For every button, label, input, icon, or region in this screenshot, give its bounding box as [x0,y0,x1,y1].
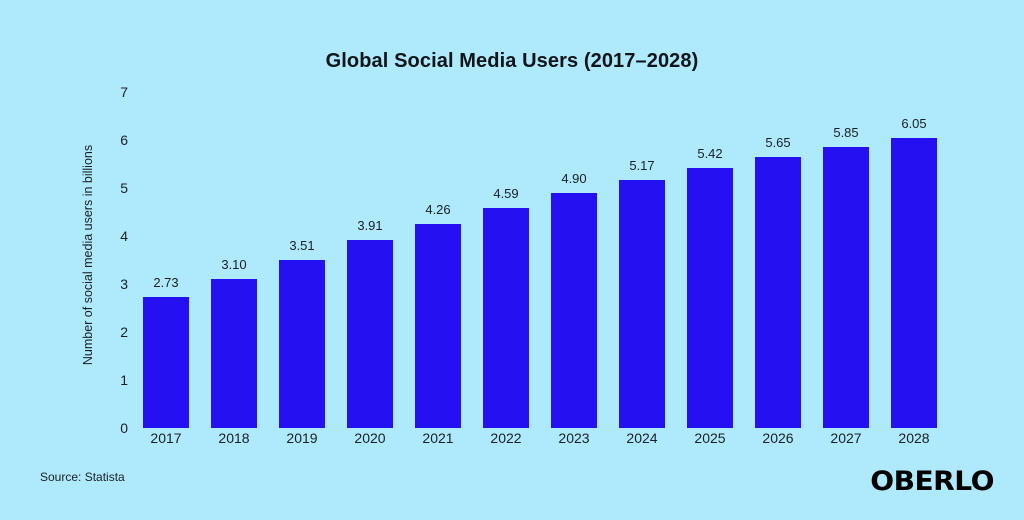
bar-group: 4.262021 [415,0,461,520]
y-axis-title: Number of social media users in billions [81,105,95,405]
bar [551,193,597,428]
bar-group: 4.902023 [551,0,597,520]
bar-value-label: 3.91 [335,218,405,233]
bar-value-label: 4.90 [539,171,609,186]
bar-value-label: 5.42 [675,146,745,161]
x-axis-tick: 2028 [879,430,949,446]
bar-group: 5.652026 [755,0,801,520]
x-axis-tick: 2023 [539,430,609,446]
bar-group: 3.102018 [211,0,257,520]
bar [415,224,461,428]
bar-value-label: 2.73 [131,275,201,290]
bar-group: 6.052028 [891,0,937,520]
bar-value-label: 4.26 [403,202,473,217]
x-axis-tick: 2019 [267,430,337,446]
y-axis-tick: 5 [104,180,128,196]
y-axis-tick: 0 [104,420,128,436]
y-axis-tick: 6 [104,132,128,148]
bar-group: 3.912020 [347,0,393,520]
chart-plot-area: Number of social media users in billions… [0,0,1024,520]
x-axis-tick: 2021 [403,430,473,446]
y-axis-tick: 4 [104,228,128,244]
bar-value-label: 5.65 [743,135,813,150]
bar [483,208,529,428]
bar [211,279,257,428]
x-axis-tick: 2025 [675,430,745,446]
bar-group: 2.732017 [143,0,189,520]
bar [823,147,869,428]
bar-value-label: 4.59 [471,186,541,201]
source-note: Source: Statista [40,470,125,484]
bar [347,240,393,428]
bar-value-label: 6.05 [879,116,949,131]
x-axis-tick: 2026 [743,430,813,446]
bar-series: 2.7320173.1020183.5120193.9120204.262021… [143,0,943,520]
x-axis-tick: 2017 [131,430,201,446]
y-axis-tick: 3 [104,276,128,292]
bar-group: 5.172024 [619,0,665,520]
bar-group: 4.592022 [483,0,529,520]
y-axis-tick: 7 [104,84,128,100]
bar [687,168,733,428]
x-axis-tick: 2027 [811,430,881,446]
infographic-canvas: Global Social Media Users (2017–2028) Nu… [0,0,1024,520]
bar-group: 5.422025 [687,0,733,520]
x-axis-tick: 2022 [471,430,541,446]
y-axis-tick: 2 [104,324,128,340]
bar [619,180,665,428]
bar [755,157,801,428]
bar [279,260,325,428]
bar-group: 3.512019 [279,0,325,520]
y-axis-tick-labels: 01234567 [104,0,128,520]
x-axis-tick: 2024 [607,430,677,446]
y-axis-tick: 1 [104,372,128,388]
bar [143,297,189,428]
x-axis-tick: 2018 [199,430,269,446]
bar-value-label: 5.17 [607,158,677,173]
oberlo-logo: OBERLO [870,466,994,497]
bar-value-label: 3.51 [267,238,337,253]
bar-value-label: 5.85 [811,125,881,140]
bar-group: 5.852027 [823,0,869,520]
x-axis-tick: 2020 [335,430,405,446]
bar-value-label: 3.10 [199,257,269,272]
bar [891,138,937,428]
